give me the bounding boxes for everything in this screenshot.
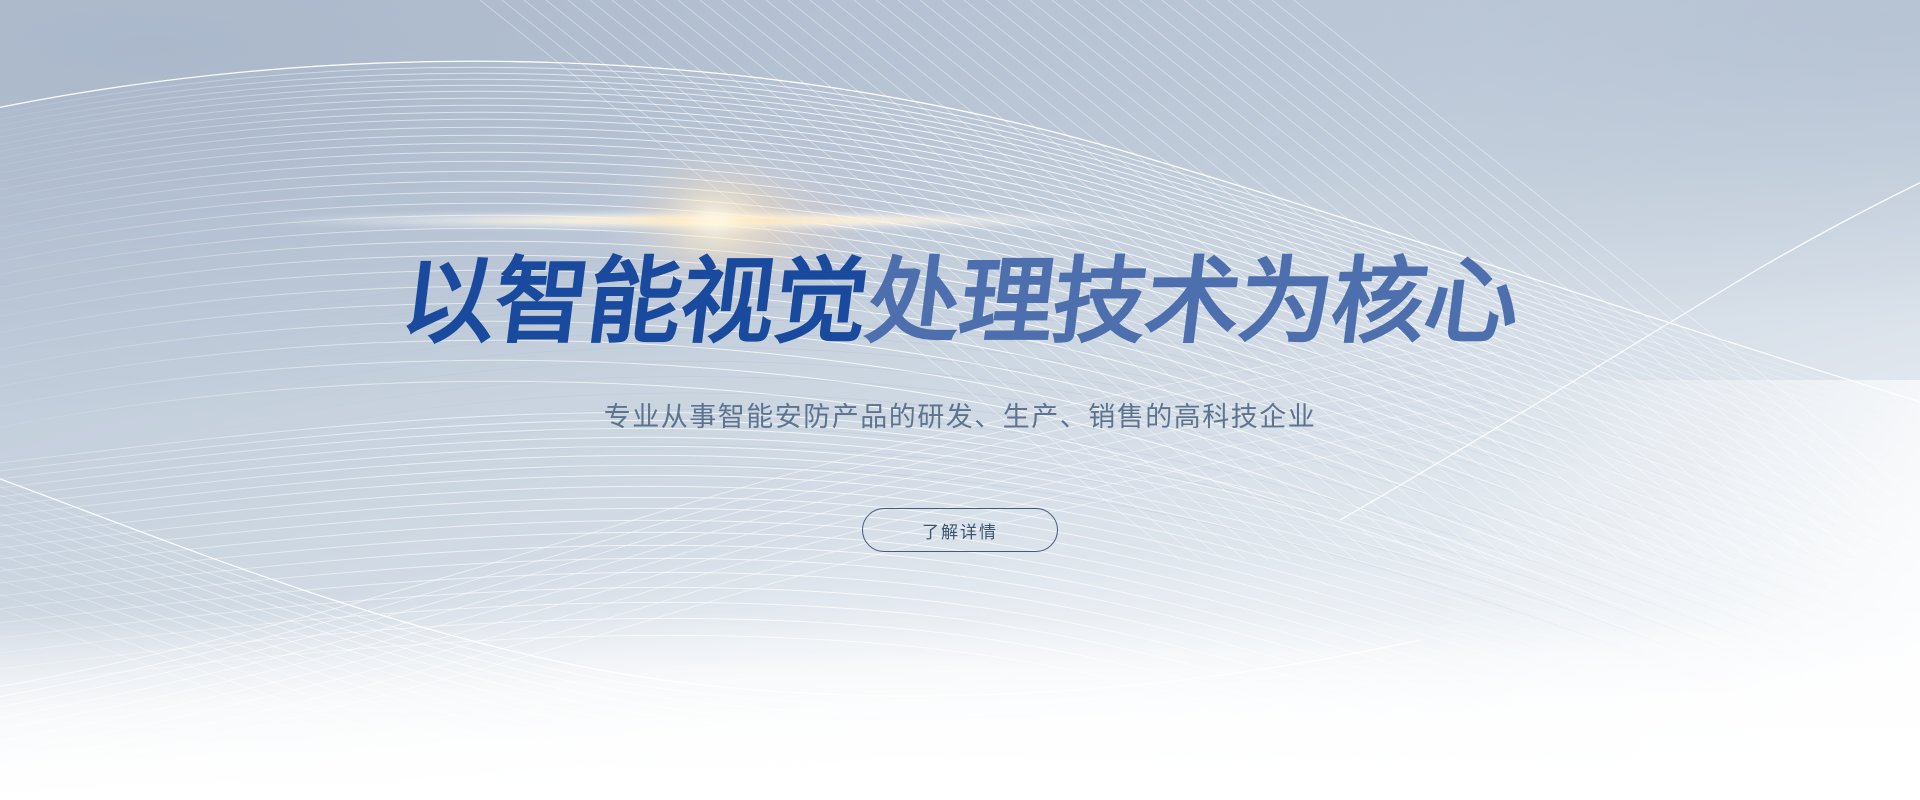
- hero-content: 以智能视觉处理技术为核心 专业从事智能安防产品的研发、生产、销售的高科技企业 了…: [0, 0, 1920, 800]
- headline-segment-primary: 以智能视觉: [396, 256, 873, 350]
- learn-more-button[interactable]: 了解详情: [862, 508, 1058, 552]
- headline-segment-secondary: 处理技术为核心: [861, 256, 1524, 350]
- page-title: 以智能视觉处理技术为核心: [0, 256, 1920, 350]
- cta-container: 了解详情: [0, 508, 1920, 552]
- hero-subtitle: 专业从事智能安防产品的研发、生产、销售的高科技企业: [0, 402, 1920, 434]
- hero-banner: 以智能视觉处理技术为核心 专业从事智能安防产品的研发、生产、销售的高科技企业 了…: [0, 0, 1920, 800]
